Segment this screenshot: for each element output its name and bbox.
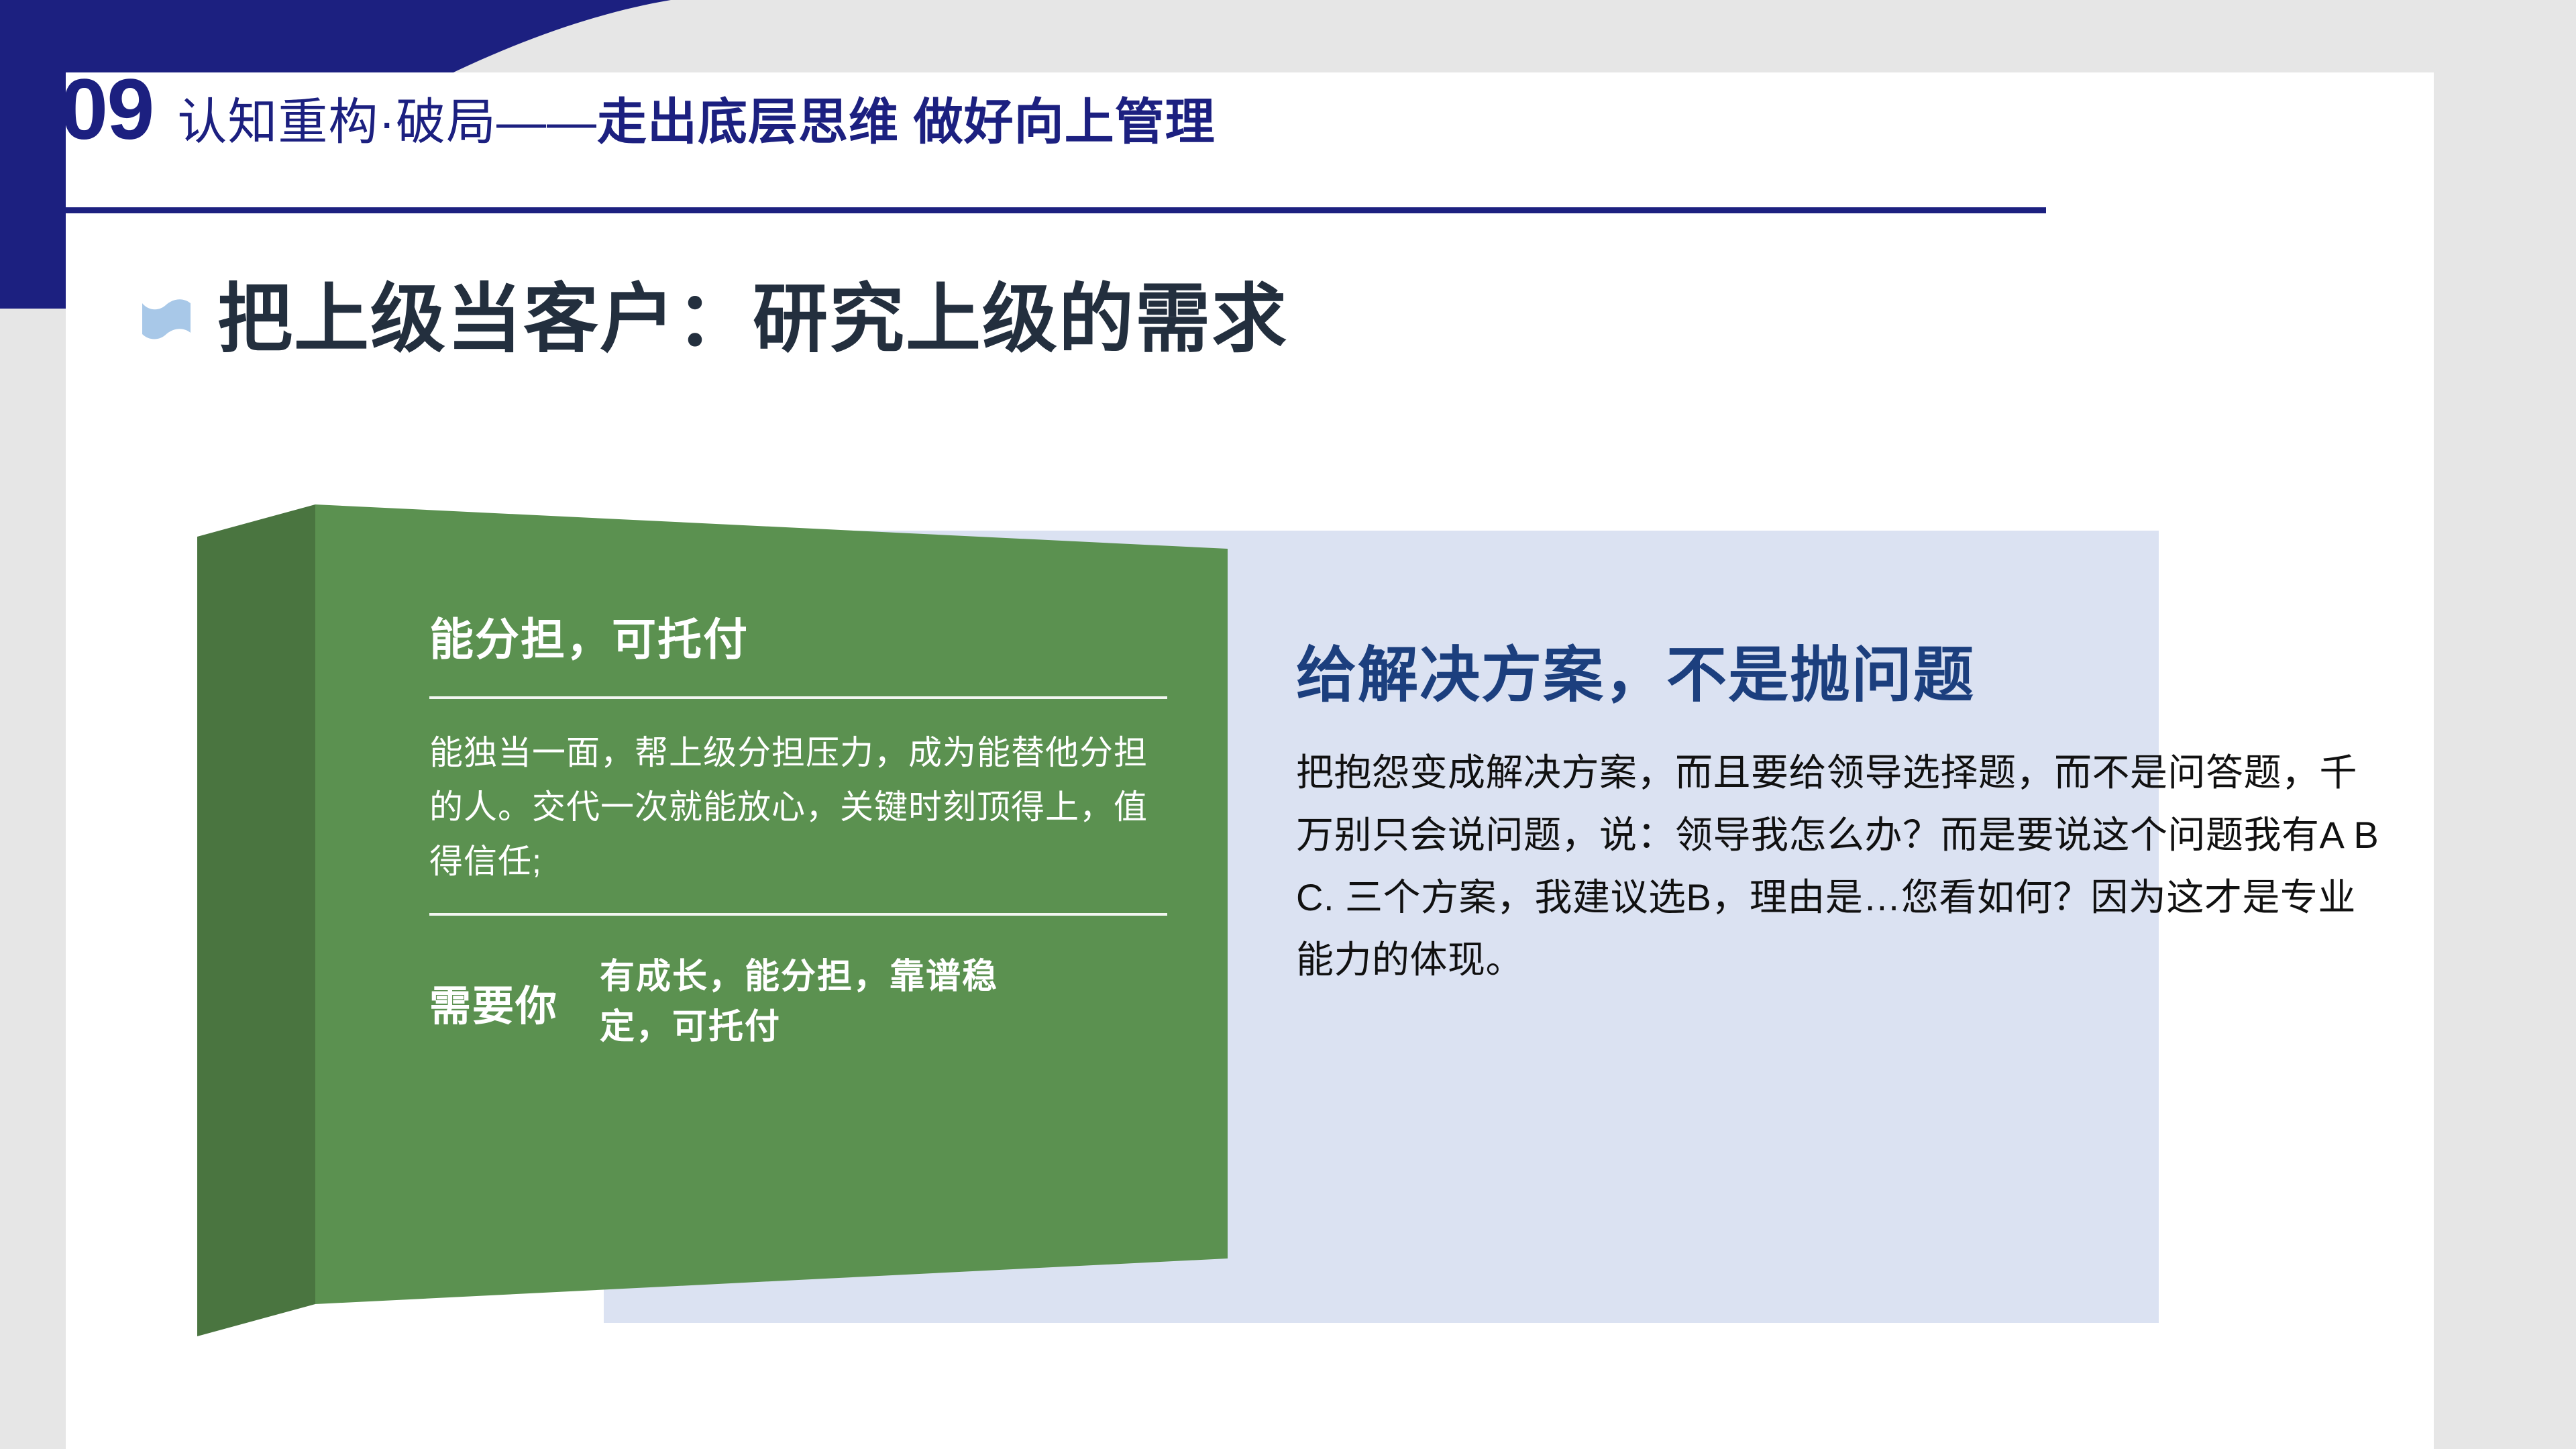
green-card-footer: 需要你 有成长，能分担，靠谱稳定，可托付 [429, 952, 1181, 1053]
flag-icon [142, 297, 191, 342]
right-gray-band [2434, 0, 2576, 1449]
slide-header: 09 认知重构·破局——走出底层思维 做好向上管理 [60, 67, 1216, 153]
section-heading-bold: 走出底层思维 做好向上管理 [597, 94, 1216, 150]
green-card-content: 能分担，可托付 能独当一面，帮上级分担压力，成为能替他分担的人。交代一次就能放心… [429, 617, 1181, 1053]
section-heading: 认知重构·破局——走出底层思维 做好向上管理 [177, 97, 1215, 147]
green-card-divider-top [429, 696, 1167, 699]
green-card-body: 能独当一面，帮上级分担压力，成为能替他分担的人。交代一次就能放心，关键时刻顶得上… [429, 726, 1181, 889]
page-title: 把上级当客户：研究上级的需求 [217, 282, 1288, 357]
slide-canvas: 09 认知重构·破局——走出底层思维 做好向上管理 把上级当客户：研究上级的需求… [0, 0, 2576, 1449]
blue-card-content: 给解决方案，不是抛问题 把抱怨变成解决方案，而且要给领导选择题，而不是问答题，千… [1296, 645, 2440, 991]
section-title-row: 把上级当客户：研究上级的需求 [142, 282, 1288, 357]
green-card-footer-label: 需要你 [429, 972, 558, 1032]
blue-card-body: 把抱怨变成解决方案，而且要给领导选择题，而不是问答题，千万别只会说问题，说：领导… [1296, 742, 2390, 991]
green-card-heading: 能分担，可托付 [429, 617, 1181, 661]
section-heading-normal: 认知重构·破局—— [177, 94, 597, 150]
blue-card-heading: 给解决方案，不是抛问题 [1296, 645, 2440, 706]
green-card-divider-bottom [429, 913, 1167, 916]
header-divider [62, 207, 2046, 213]
green-card-footer-value: 有成长，能分担，靠谱稳定，可托付 [600, 952, 1029, 1053]
section-number: 09 [60, 67, 153, 153]
